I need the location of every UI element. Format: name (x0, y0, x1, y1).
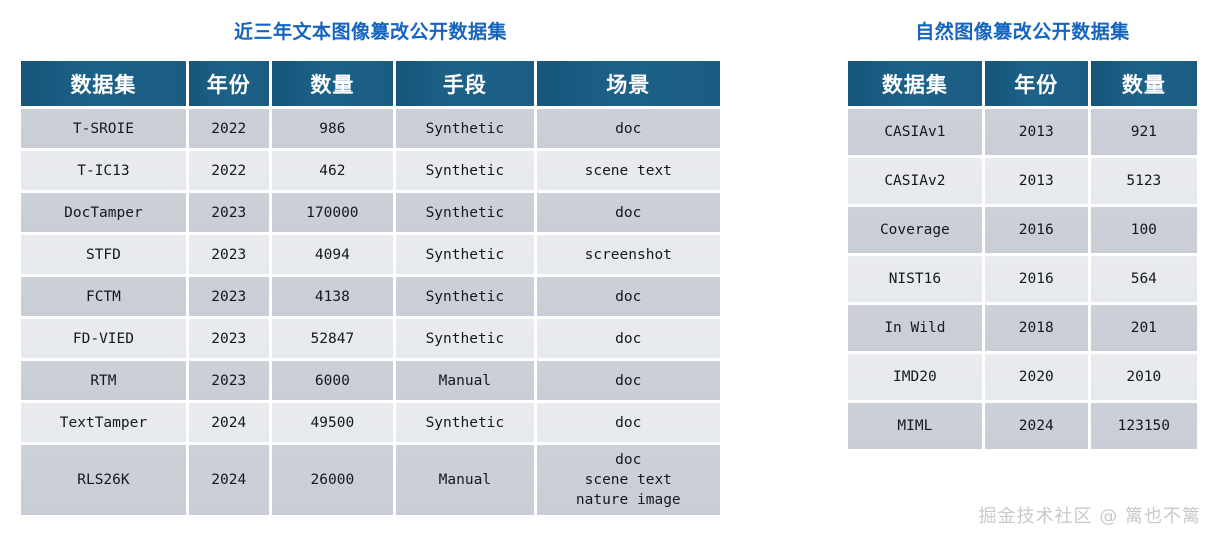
right-table-cell-数据集: MIML (848, 403, 982, 449)
left-table-cell-手段: Synthetic (396, 151, 533, 190)
left-table-column-header: 数据集 (21, 61, 186, 106)
right-table-column-header: 年份 (985, 61, 1088, 106)
left-table-cell-数据集: T-SROIE (21, 109, 186, 148)
right-table-cell-年份: 2016 (985, 256, 1088, 302)
left-table-cell-年份: 2023 (189, 277, 269, 316)
left-table-cell-数量: 462 (272, 151, 394, 190)
left-table-column-header: 场景 (537, 61, 720, 106)
left-table-cell-手段: Manual (396, 445, 533, 515)
left-table-cell-场景: doc scene text nature image (537, 445, 720, 515)
table-row: STFD20234094Syntheticscreenshot (21, 235, 720, 274)
left-table-title: 近三年文本图像篡改公开数据集 (18, 0, 723, 42)
table-row: NIST162016564 (848, 256, 1197, 302)
left-table-cell-数据集: FD-VIED (21, 319, 186, 358)
left-table-cell-手段: Synthetic (396, 403, 533, 442)
left-table-cell-数据集: TextTamper (21, 403, 186, 442)
right-table-cell-数量: 5123 (1091, 158, 1197, 204)
right-table-cell-数量: 201 (1091, 305, 1197, 351)
table-row: DocTamper2023170000Syntheticdoc (21, 193, 720, 232)
table-row: T-IC132022462Syntheticscene text (21, 151, 720, 190)
left-table-column-header: 手段 (396, 61, 533, 106)
left-table-cell-场景: scene text (537, 151, 720, 190)
left-table-cell-数据集: T-IC13 (21, 151, 186, 190)
table-row: FD-VIED202352847Syntheticdoc (21, 319, 720, 358)
right-table-cell-年份: 2013 (985, 158, 1088, 204)
right-table-column-header: 数量 (1091, 61, 1197, 106)
left-table-column-header: 数量 (272, 61, 394, 106)
left-table-cell-年份: 2022 (189, 109, 269, 148)
left-table-cell-年份: 2024 (189, 445, 269, 515)
left-table-panel: 近三年文本图像篡改公开数据集 数据集年份数量手段场景 T-SROIE202298… (18, 0, 723, 518)
right-table-cell-年份: 2013 (985, 109, 1088, 155)
left-table-cell-数据集: STFD (21, 235, 186, 274)
left-table-cell-数量: 6000 (272, 361, 394, 400)
left-table-cell-数据集: DocTamper (21, 193, 186, 232)
left-table-cell-场景: doc (537, 193, 720, 232)
right-table-cell-数量: 100 (1091, 207, 1197, 253)
left-table-header-row: 数据集年份数量手段场景 (21, 61, 720, 106)
left-table-cell-数量: 52847 (272, 319, 394, 358)
table-row: RLS26K202426000Manualdoc scene text natu… (21, 445, 720, 515)
right-table-cell-数量: 2010 (1091, 354, 1197, 400)
left-table-cell-手段: Manual (396, 361, 533, 400)
left-table-cell-场景: doc (537, 277, 720, 316)
left-table-body: T-SROIE2022986SyntheticdocT-IC132022462S… (21, 109, 720, 515)
table-row: T-SROIE2022986Syntheticdoc (21, 109, 720, 148)
left-table-cell-年份: 2024 (189, 403, 269, 442)
right-table-cell-数据集: In Wild (848, 305, 982, 351)
right-table-cell-数据集: NIST16 (848, 256, 982, 302)
left-table-cell-手段: Synthetic (396, 319, 533, 358)
left-table-cell-数量: 4138 (272, 277, 394, 316)
left-table-cell-年份: 2022 (189, 151, 269, 190)
left-table-cell-场景: doc (537, 109, 720, 148)
table-row: TextTamper202449500Syntheticdoc (21, 403, 720, 442)
left-table-cell-场景: screenshot (537, 235, 720, 274)
left-table-cell-数量: 170000 (272, 193, 394, 232)
right-table-head: 数据集年份数量 (848, 61, 1197, 106)
left-table-cell-场景: doc (537, 403, 720, 442)
left-table-cell-年份: 2023 (189, 235, 269, 274)
right-table-cell-年份: 2018 (985, 305, 1088, 351)
right-table-title: 自然图像篡改公开数据集 (845, 0, 1200, 42)
left-table-cell-数量: 49500 (272, 403, 394, 442)
table-row: RTM20236000Manualdoc (21, 361, 720, 400)
left-table-cell-手段: Synthetic (396, 235, 533, 274)
left-table-cell-数据集: RLS26K (21, 445, 186, 515)
table-row: IMD2020202010 (848, 354, 1197, 400)
right-table-cell-年份: 2016 (985, 207, 1088, 253)
right-table-cell-数据集: CASIAv1 (848, 109, 982, 155)
left-table-cell-年份: 2023 (189, 319, 269, 358)
table-row: FCTM20234138Syntheticdoc (21, 277, 720, 316)
right-table-cell-年份: 2020 (985, 354, 1088, 400)
watermark: 掘金技术社区 @ 篱也不篱 (979, 502, 1201, 528)
left-table-cell-手段: Synthetic (396, 193, 533, 232)
right-table-column-header: 数据集 (848, 61, 982, 106)
right-table-cell-数据集: CASIAv2 (848, 158, 982, 204)
right-table-cell-年份: 2024 (985, 403, 1088, 449)
table-row: MIML2024123150 (848, 403, 1197, 449)
left-table-cell-数量: 26000 (272, 445, 394, 515)
right-table-panel: 自然图像篡改公开数据集 数据集年份数量 CASIAv12013921CASIAv… (845, 0, 1200, 452)
right-table-cell-数量: 123150 (1091, 403, 1197, 449)
left-table-cell-数据集: RTM (21, 361, 186, 400)
right-table-cell-数量: 564 (1091, 256, 1197, 302)
table-row: CASIAv12013921 (848, 109, 1197, 155)
left-table-cell-数量: 4094 (272, 235, 394, 274)
table-row: Coverage2016100 (848, 207, 1197, 253)
left-table-cell-数量: 986 (272, 109, 394, 148)
table-row: CASIAv220135123 (848, 158, 1197, 204)
left-table-cell-数据集: FCTM (21, 277, 186, 316)
left-table-cell-年份: 2023 (189, 361, 269, 400)
natural-image-tamper-dataset-table: 数据集年份数量 CASIAv12013921CASIAv220135123Cov… (845, 58, 1200, 452)
right-table-cell-数据集: IMD20 (848, 354, 982, 400)
right-table-body: CASIAv12013921CASIAv220135123Coverage201… (848, 109, 1197, 449)
right-table-cell-数量: 921 (1091, 109, 1197, 155)
left-table-cell-手段: Synthetic (396, 277, 533, 316)
left-table-cell-手段: Synthetic (396, 109, 533, 148)
left-table-head: 数据集年份数量手段场景 (21, 61, 720, 106)
table-row: In Wild2018201 (848, 305, 1197, 351)
left-table-cell-年份: 2023 (189, 193, 269, 232)
right-table-header-row: 数据集年份数量 (848, 61, 1197, 106)
left-table-column-header: 年份 (189, 61, 269, 106)
left-table-cell-场景: doc (537, 361, 720, 400)
left-table-cell-场景: doc (537, 319, 720, 358)
text-image-tamper-dataset-table: 数据集年份数量手段场景 T-SROIE2022986SyntheticdocT-… (18, 58, 723, 518)
right-table-cell-数据集: Coverage (848, 207, 982, 253)
